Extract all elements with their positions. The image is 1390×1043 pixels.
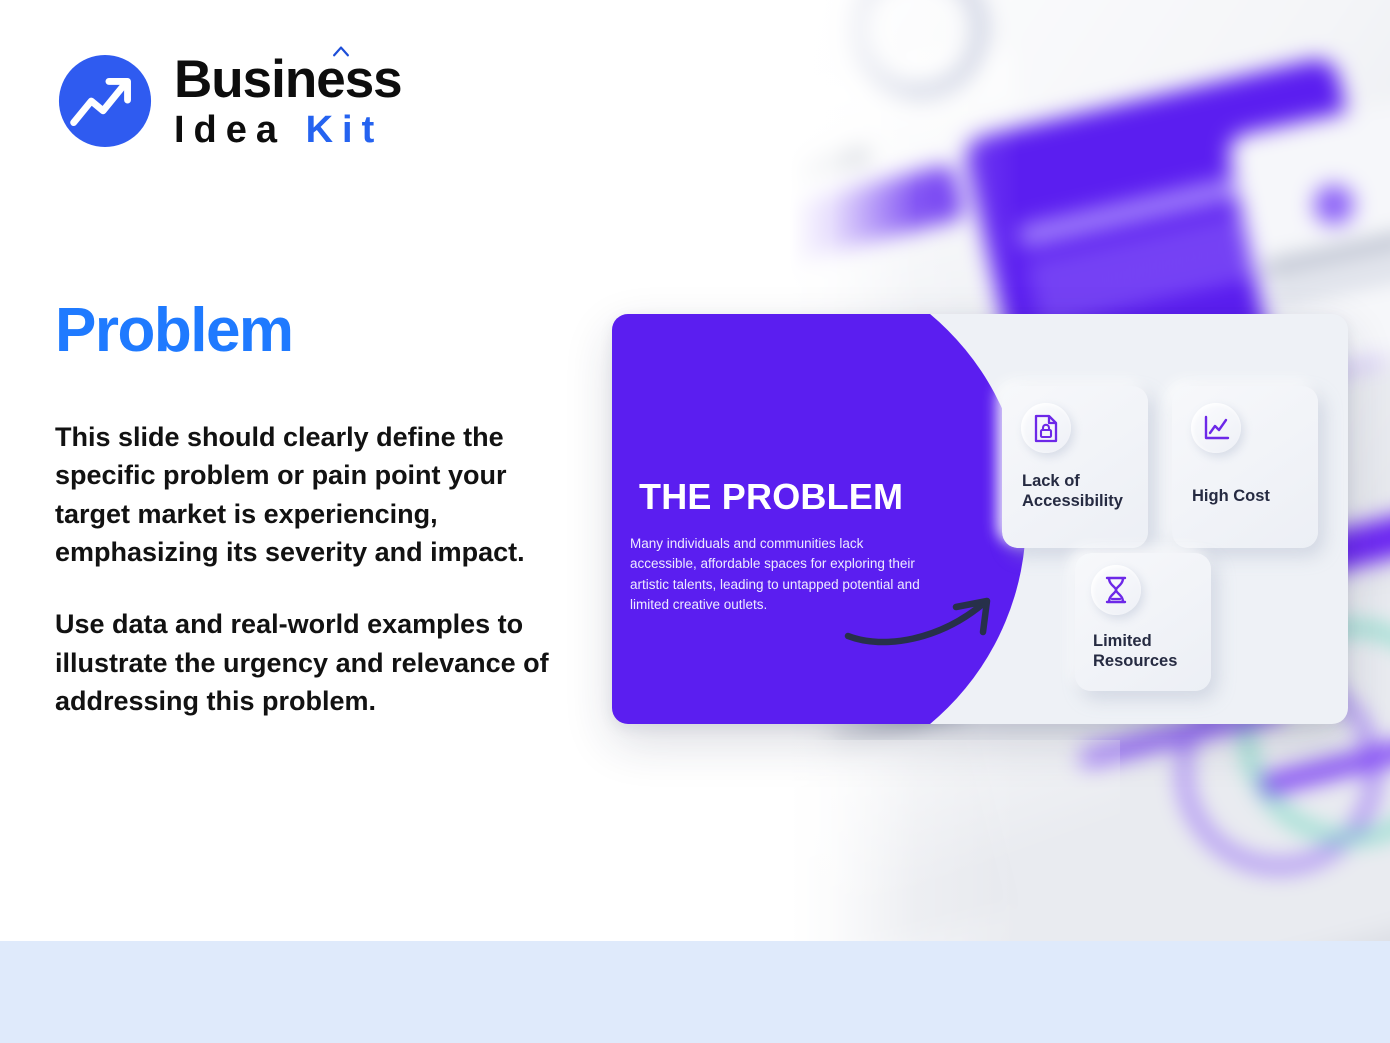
tile-label: Lack of Accessibility [1022, 471, 1138, 511]
page-title: Problem [55, 295, 293, 366]
hourglass-icon [1104, 576, 1128, 604]
curved-arrow-up-right-icon [844, 594, 1008, 649]
slide-preview-card[interactable]: THE PROBLEM Many individuals and communi… [612, 314, 1348, 724]
feature-tile-limited-resources[interactable]: Limited Resources [1075, 553, 1211, 691]
tile-icon-badge [1091, 565, 1141, 615]
bottom-accent-band [0, 941, 1390, 1043]
brand-logo[interactable]: Business Idea Kit [56, 52, 402, 150]
body-paragraph-2: Use data and real-world examples to illu… [55, 605, 565, 720]
tile-icon-badge [1021, 403, 1071, 453]
tile-icon-badge [1191, 403, 1241, 453]
feature-tile-accessibility[interactable]: Lack of Accessibility [1002, 386, 1148, 548]
tile-label: High Cost [1192, 486, 1308, 506]
growth-arrow-circle-icon [56, 52, 154, 150]
circumflex-accent-icon [332, 45, 350, 57]
brand-name-line1: Business [174, 53, 402, 106]
feature-tile-high-cost[interactable]: High Cost [1172, 386, 1318, 548]
body-paragraph-1: This slide should clearly define the spe… [55, 418, 565, 571]
document-lock-icon [1033, 414, 1059, 443]
line-chart-icon [1202, 415, 1230, 442]
slide-preview-page: Business Idea Kit Problem This slide sho… [0, 0, 1390, 1043]
left-content-column: Business Idea Kit Problem This slide sho… [0, 0, 600, 941]
tile-label: Limited Resources [1093, 631, 1201, 671]
brand-name-line2: Idea Kit [174, 111, 402, 149]
slide-heading: THE PROBLEM [639, 476, 903, 518]
page-body-copy: This slide should clearly define the spe… [55, 418, 565, 720]
purple-blob-shape [612, 314, 1026, 724]
